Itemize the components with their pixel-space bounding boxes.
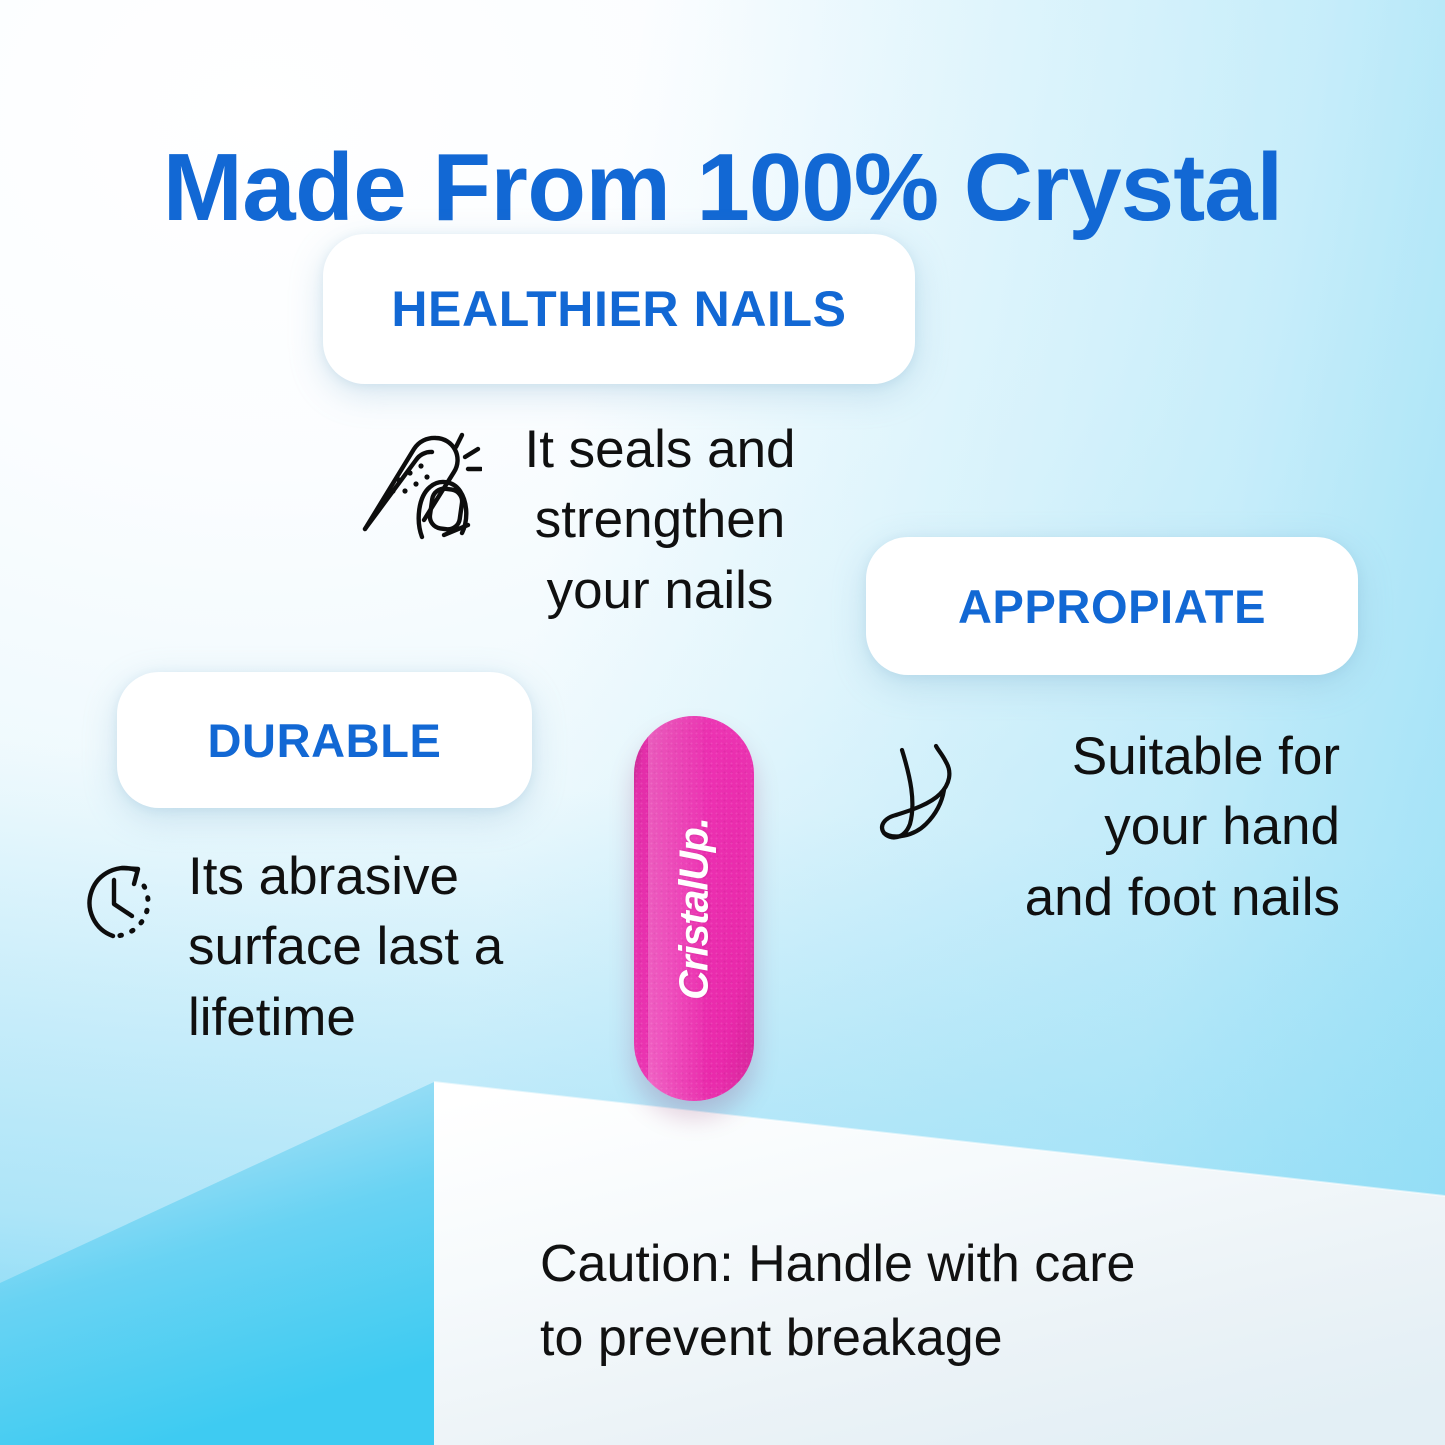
page-title: Made From 100% Crystal (0, 136, 1445, 240)
product-nail-file: CristalUp. (634, 716, 754, 1101)
benefit-card-healthier-nails: HEALTHIER NAILS (323, 234, 915, 384)
benefit-card-appropiate: APPROPIATE (866, 537, 1358, 675)
feature-text: Its abrasive surface last a lifetime (188, 842, 508, 1053)
benefit-card-label: APPROPIATE (958, 579, 1266, 634)
pedestal-left-face (0, 1082, 434, 1445)
title-plain: Made From (163, 134, 697, 241)
title-emphasis: 100% Crystal (697, 134, 1283, 241)
infographic-canvas: CristalUp. Made From 100% Crystal HEALTH… (0, 0, 1445, 1445)
caution-note: Caution: Handle with care to prevent bre… (540, 1228, 1260, 1376)
foot-outline-icon (874, 736, 984, 866)
feature-seals-strengthen: It seals and strengthen your nails (352, 415, 822, 626)
feature-text: It seals and strengthen your nails (510, 415, 810, 626)
feature-abrasive-lifetime: Its abrasive surface last a lifetime (64, 842, 534, 1053)
caution-line-1: Caution: Handle with care (540, 1228, 1260, 1302)
caution-line-2: to prevent breakage (540, 1302, 1260, 1376)
nail-file-fingertip-icon (352, 425, 482, 545)
feature-suitable-hand-foot: Suitable for your hand and foot nails (874, 722, 1349, 933)
benefit-card-durable: DURABLE (117, 672, 532, 808)
product-brand-logo: CristalUp. (671, 818, 718, 1000)
feature-text: Suitable for your hand and foot nails (1010, 722, 1340, 933)
benefit-card-label: DURABLE (208, 713, 442, 768)
benefit-card-label: HEALTHIER NAILS (391, 280, 846, 338)
clock-lifetime-icon (64, 852, 164, 952)
